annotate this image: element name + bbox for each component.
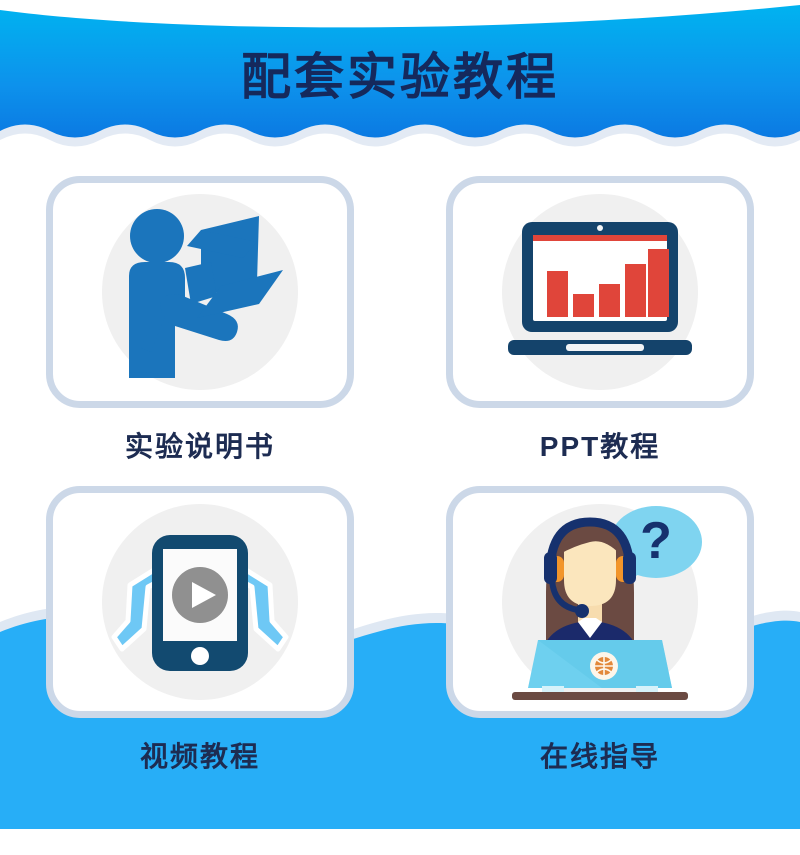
card-lab-manual[interactable]: [46, 176, 354, 408]
tablet-play-button-icon: [100, 517, 300, 687]
header-banner: 配套实验教程: [0, 0, 800, 172]
laptop-bar-chart-icon: [500, 218, 700, 366]
card-cell-video-tutorial: 视频教程: [0, 486, 400, 796]
card-label-online-support: 在线指导: [540, 740, 660, 774]
card-ppt-tutorial[interactable]: [446, 176, 754, 408]
person-reading-laptop-icon: [105, 206, 295, 378]
card-label-ppt-tutorial: PPT教程: [540, 430, 660, 464]
card-cell-online-support: ?: [400, 486, 800, 796]
card-online-support[interactable]: ?: [446, 486, 754, 718]
question-mark-glyph: ?: [640, 512, 672, 570]
headset-agent-laptop-icon: ?: [494, 500, 706, 704]
promo-page: 配套实验教程: [0, 0, 800, 855]
tutorial-card-grid: 实验说明书: [0, 176, 800, 796]
card-label-lab-manual: 实验说明书: [125, 430, 275, 464]
card-label-video-tutorial: 视频教程: [140, 740, 260, 774]
card-cell-lab-manual: 实验说明书: [0, 176, 400, 486]
card-video-tutorial[interactable]: [46, 486, 354, 718]
page-title: 配套实验教程: [0, 46, 800, 108]
card-cell-ppt-tutorial: PPT教程: [400, 176, 800, 486]
